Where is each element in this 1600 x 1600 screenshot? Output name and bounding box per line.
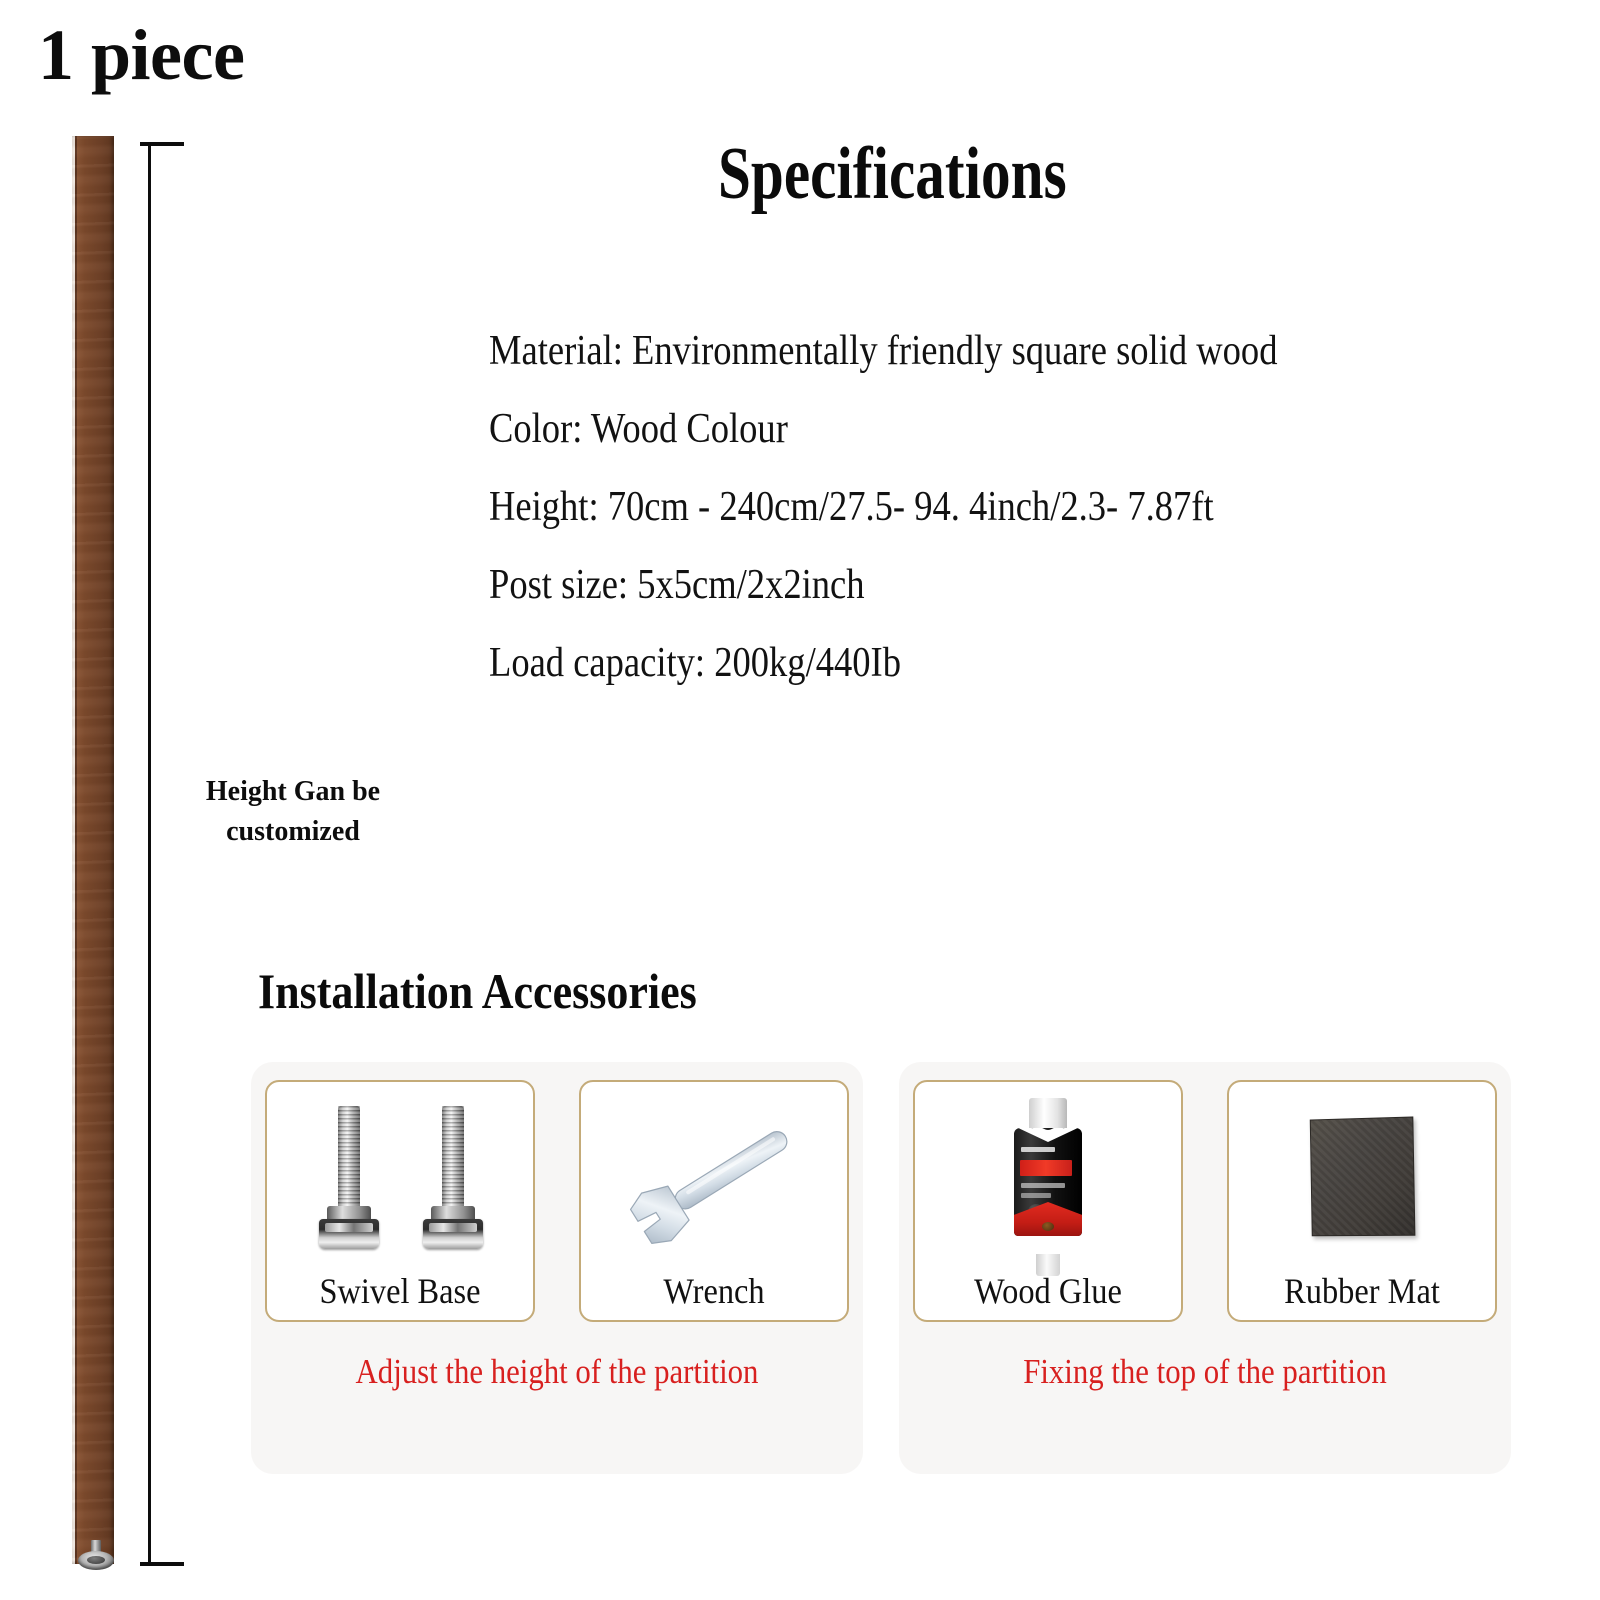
tube-text-line bbox=[1021, 1193, 1051, 1198]
tube-body bbox=[1014, 1128, 1082, 1236]
rubber-mat-icon bbox=[1229, 1090, 1495, 1260]
tube-chevron bbox=[1014, 1128, 1082, 1146]
tube-text-line bbox=[1021, 1183, 1065, 1188]
tube-red-label bbox=[1020, 1160, 1072, 1176]
wood-post-image bbox=[72, 136, 114, 1564]
bolt-base bbox=[319, 1219, 379, 1249]
accessory-cards-row: Wood Glue Rubber Mat bbox=[899, 1080, 1511, 1322]
wrench-svg bbox=[581, 1090, 849, 1260]
height-customizable-note: Height Gan be customized bbox=[160, 772, 426, 852]
accessory-card-rubber-mat[interactable]: Rubber Mat bbox=[1227, 1080, 1497, 1322]
tube-text-line bbox=[1021, 1147, 1055, 1152]
accessory-group-adjust-height: Swivel Base bbox=[251, 1062, 863, 1474]
accessory-card-wrench[interactable]: Wrench bbox=[579, 1080, 849, 1322]
wrench-icon bbox=[581, 1090, 847, 1260]
accessory-cards-row: Swivel Base bbox=[251, 1080, 863, 1322]
spec-line-height: Height: 70cm - 240cm/27.5- 94. 4inch/2.3… bbox=[489, 486, 1420, 528]
glue-tube-icon bbox=[915, 1090, 1181, 1260]
foot-disc bbox=[78, 1551, 114, 1570]
product-spec-page: 1 piece Height Gan be customized Specifi… bbox=[0, 0, 1600, 1600]
swivel-base-icon bbox=[267, 1090, 533, 1260]
bolt-shaft bbox=[442, 1106, 464, 1214]
wood-grain-texture bbox=[72, 136, 114, 1564]
tube-bottom-red bbox=[1014, 1202, 1082, 1236]
spec-line-color: Color: Wood Colour bbox=[489, 408, 1420, 450]
accessory-group-caption-fix-top: Fixing the top of the partition bbox=[936, 1352, 1475, 1392]
accessory-group-fix-top: Wood Glue Rubber Mat Fixing the top of t… bbox=[899, 1062, 1511, 1474]
accessory-label-wrench: Wrench bbox=[594, 1270, 833, 1312]
installation-accessories-title: Installation Accessories bbox=[258, 962, 697, 1020]
glue-tube bbox=[1014, 1098, 1082, 1256]
bolt-shaft bbox=[338, 1106, 360, 1214]
piece-count-label: 1 piece bbox=[38, 18, 244, 94]
bolt-left bbox=[319, 1106, 379, 1256]
spec-line-material: Material: Environmentally friendly squar… bbox=[489, 330, 1420, 372]
rubber-mat-shape bbox=[1310, 1116, 1416, 1236]
accessory-card-wood-glue[interactable]: Wood Glue bbox=[913, 1080, 1183, 1322]
specifications-title: Specifications bbox=[718, 132, 1067, 217]
accessory-card-swivel-base[interactable]: Swivel Base bbox=[265, 1080, 535, 1322]
spec-line-post-size: Post size: 5x5cm/2x2inch bbox=[489, 564, 1420, 606]
accessory-group-caption-adjust-height: Adjust the height of the partition bbox=[288, 1352, 827, 1392]
specifications-list: Material: Environmentally friendly squar… bbox=[489, 330, 1559, 720]
post-swivel-foot-icon bbox=[78, 1540, 114, 1570]
bolt-right bbox=[423, 1106, 483, 1256]
dimension-cap-bottom bbox=[140, 1562, 184, 1566]
dimension-cap-top bbox=[140, 142, 184, 146]
spec-line-load-capacity: Load capacity: 200kg/440Ib bbox=[489, 642, 1420, 684]
bolt-base bbox=[423, 1219, 483, 1249]
accessory-label-rubber-mat: Rubber Mat bbox=[1242, 1270, 1481, 1312]
accessory-label-wood-glue: Wood Glue bbox=[928, 1270, 1167, 1312]
height-dimension-line bbox=[148, 143, 151, 1566]
accessory-label-swivel-base: Swivel Base bbox=[280, 1270, 519, 1312]
